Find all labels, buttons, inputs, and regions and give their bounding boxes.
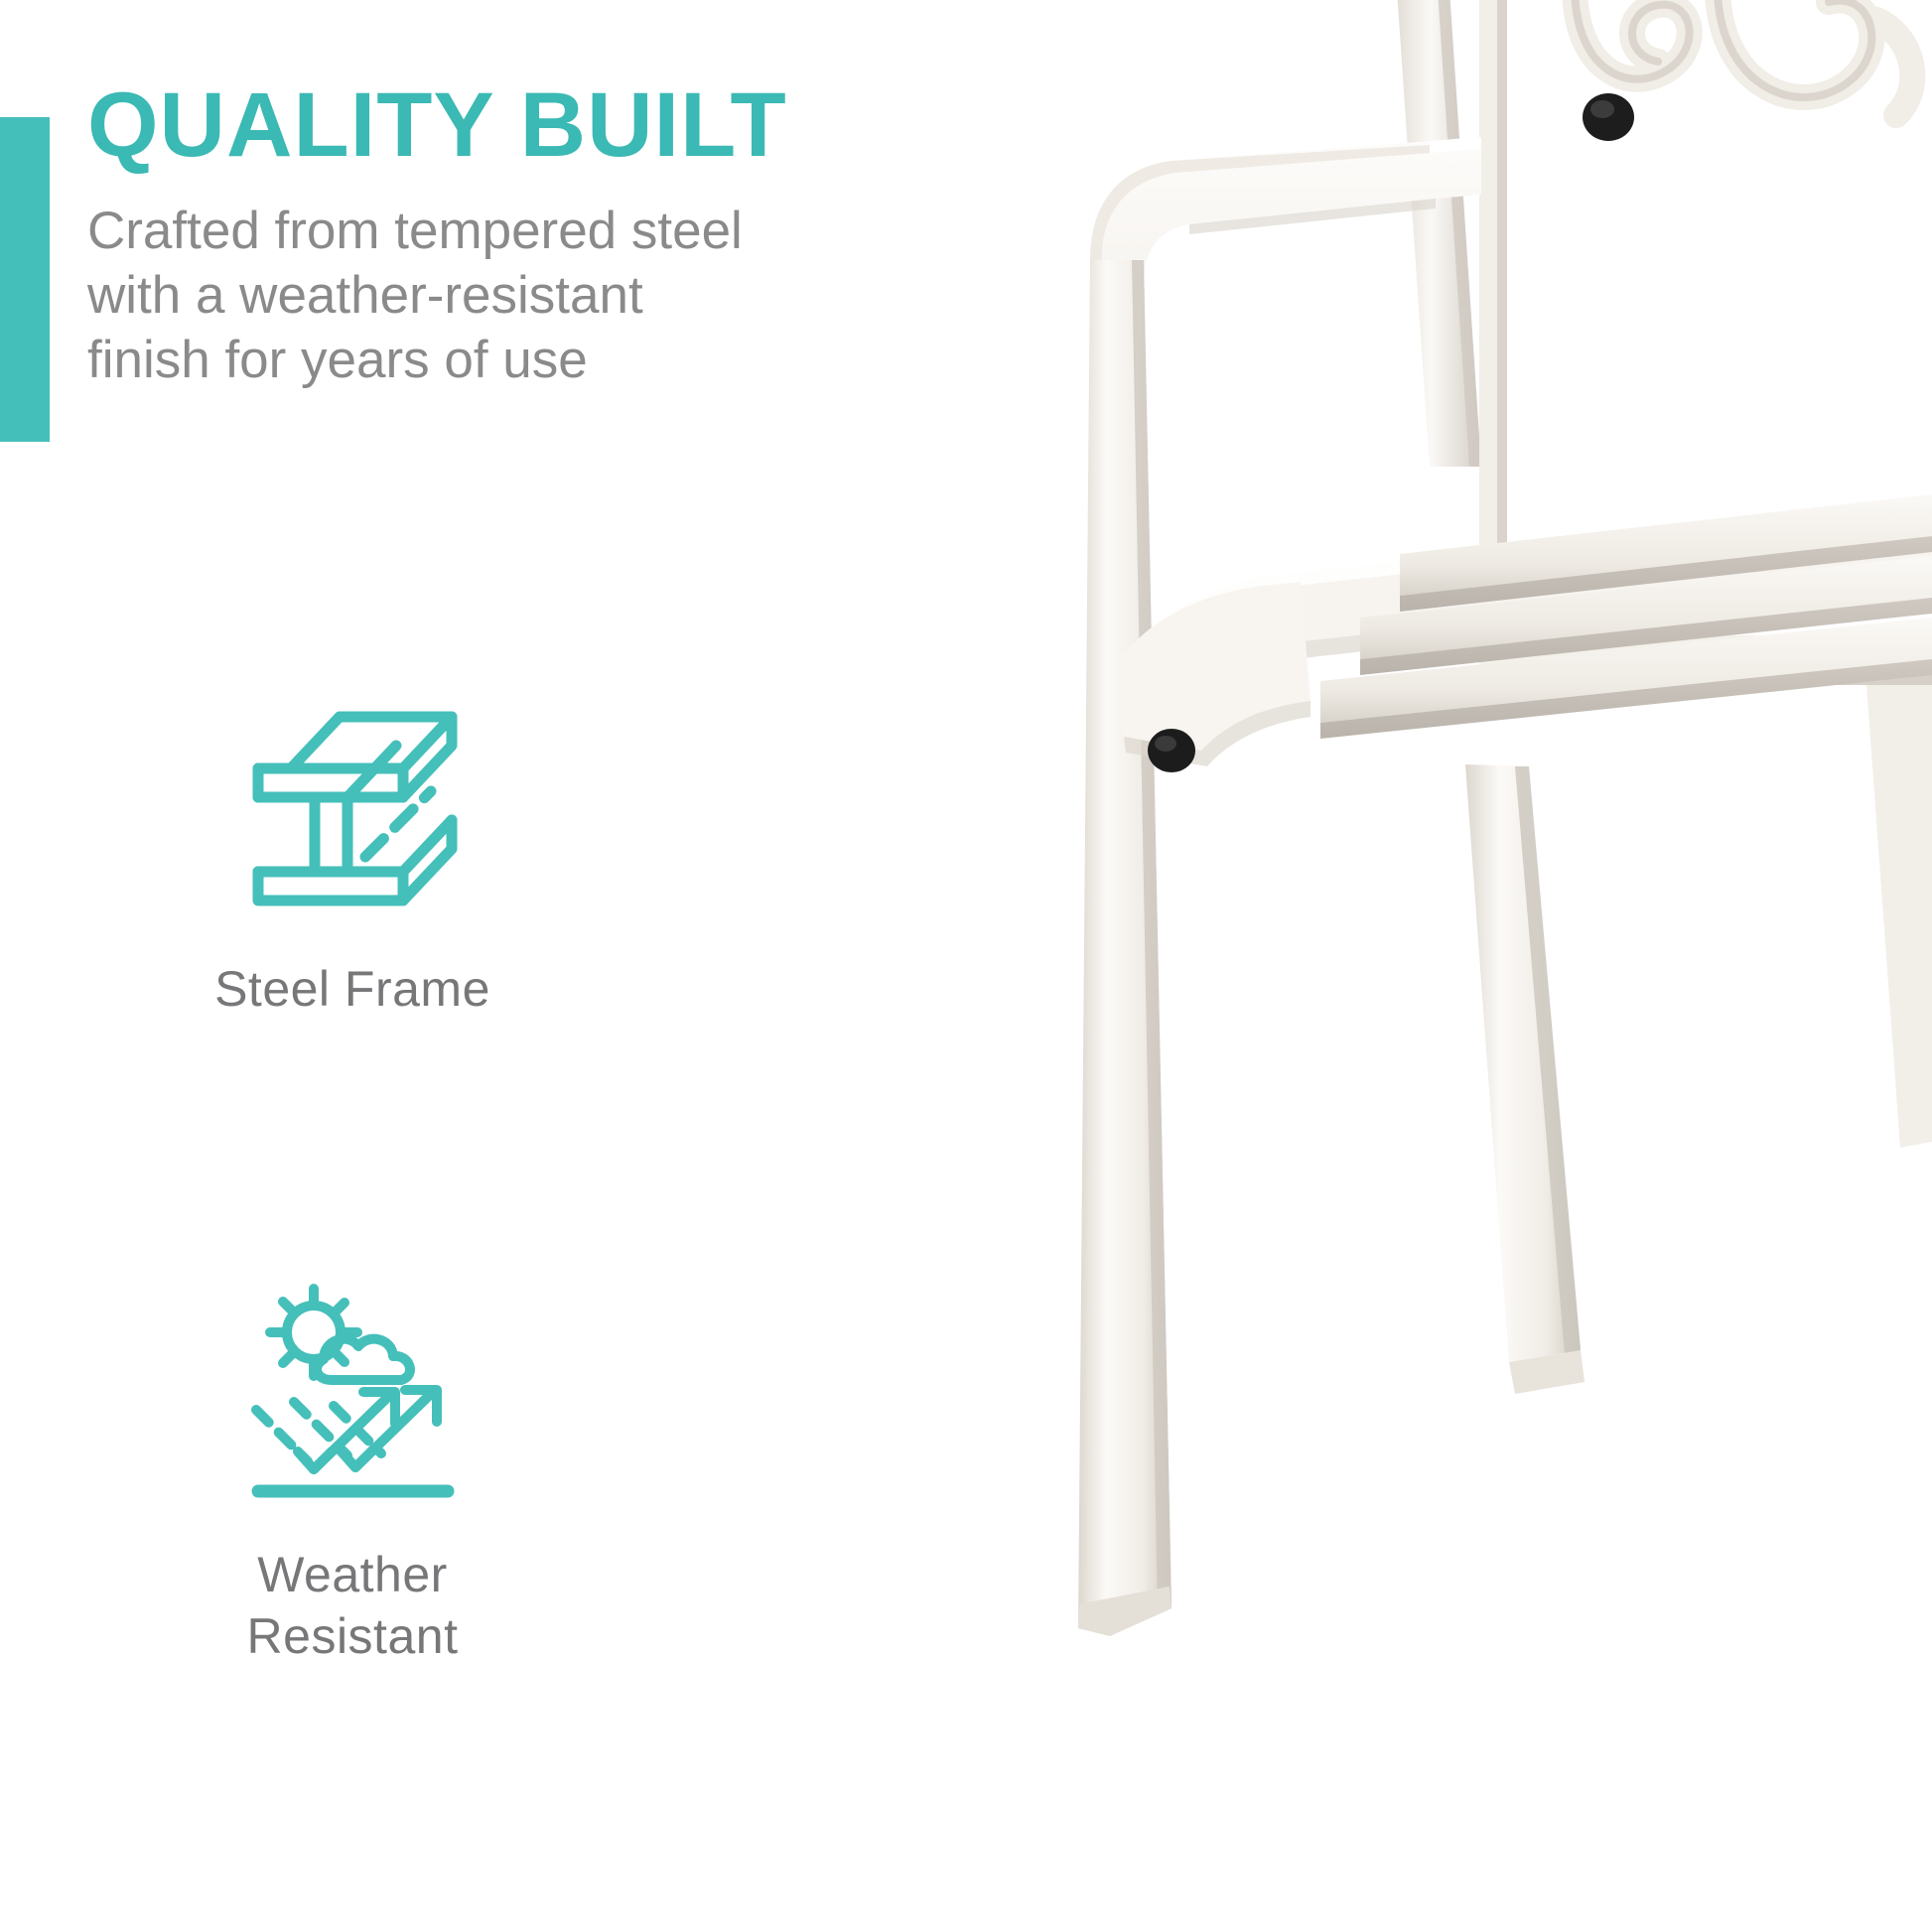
feature-weather-resistant: Weather Resistant — [45, 1281, 660, 1667]
feature-label-line-1: Steel Frame — [214, 961, 490, 1017]
feature-label-line-1: Weather — [45, 1544, 660, 1605]
bench-bolt-cap-upper — [1583, 93, 1634, 141]
subtitle-line-1: Crafted from tempered steel — [87, 199, 802, 263]
bench-bolt-cap-lower — [1148, 729, 1195, 772]
product-photo — [874, 0, 1932, 1932]
product-feature-image: QUALITY BUILT Crafted from tempered stee… — [0, 0, 1932, 1932]
accent-bar — [0, 117, 50, 442]
page-subtitle: Crafted from tempered steel with a weath… — [87, 199, 802, 392]
feature-steel-frame: Steel Frame — [45, 695, 660, 1020]
feature-label-steel-frame: Steel Frame — [45, 958, 660, 1020]
feature-label-line-2: Resistant — [45, 1605, 660, 1667]
feature-label-weather-resistant: Weather Resistant — [45, 1544, 660, 1667]
weather-resistant-icon — [45, 1281, 660, 1514]
steel-i-beam-icon — [45, 695, 660, 928]
subtitle-line-2: with a weather-resistant — [87, 263, 802, 328]
subtitle-line-3: finish for years of use — [87, 328, 802, 392]
